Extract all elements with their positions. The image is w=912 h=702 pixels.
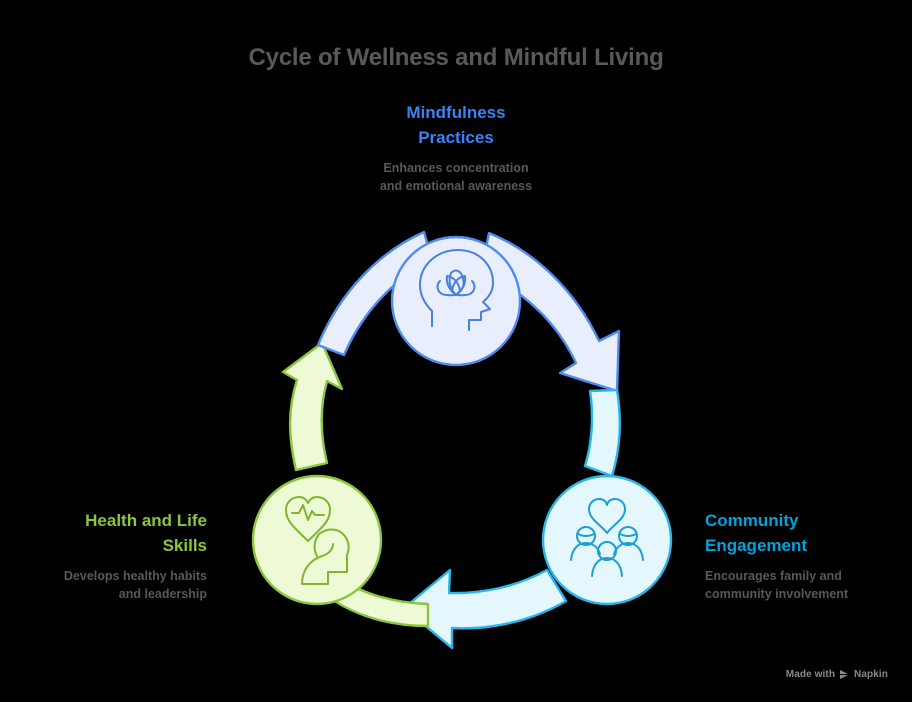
watermark-prefix: Made with	[786, 669, 835, 680]
arrow-health-to-mindfulness	[283, 343, 342, 470]
napkin-play-logo	[839, 669, 850, 680]
diagram-canvas: Cycle of Wellness and Mindful Living	[0, 0, 912, 702]
node-mindfulness[interactable]	[392, 237, 520, 365]
label-community-description: Encourages family and community involvem…	[705, 558, 905, 603]
label-health-description: Develops healthy habits and leadership	[7, 558, 207, 603]
label-mindfulness-heading: Mindfulness Practices	[306, 101, 606, 150]
label-community: Community Engagement Encourages family a…	[705, 509, 905, 603]
label-health: Health and Life Skills Develops healthy …	[7, 509, 207, 603]
node-health[interactable]	[253, 476, 381, 604]
label-mindfulness: Mindfulness Practices Enhances concentra…	[306, 101, 606, 195]
napkin-watermark[interactable]: Made with Napkin	[786, 669, 888, 680]
label-mindfulness-description: Enhances concentration and emotional awa…	[306, 150, 606, 195]
label-health-heading: Health and Life Skills	[7, 509, 207, 558]
label-community-heading: Community Engagement	[705, 509, 905, 558]
watermark-brand: Napkin	[854, 669, 888, 680]
node-community[interactable]	[543, 476, 671, 604]
